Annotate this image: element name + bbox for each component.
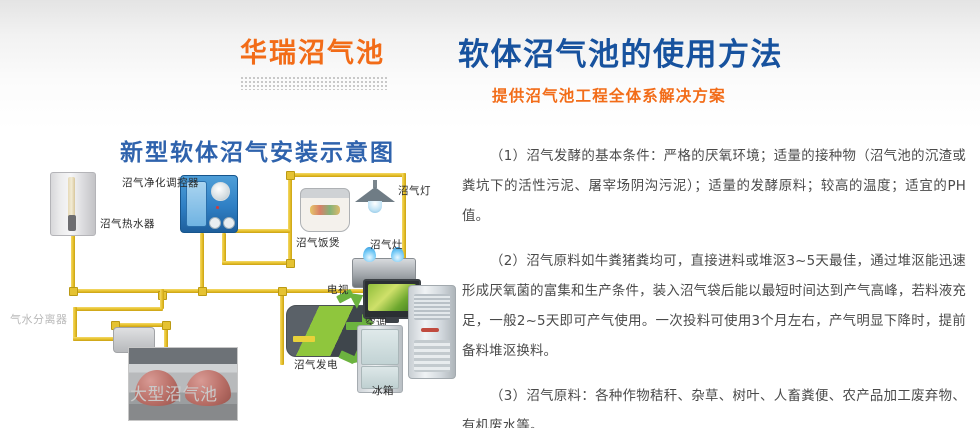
pipe-joint bbox=[69, 287, 78, 296]
biogas-lamp-device bbox=[355, 180, 395, 214]
pipe-to-generator bbox=[280, 289, 284, 365]
pipe-riser-to-top bbox=[288, 173, 292, 265]
page-title: 软体沼气池的使用方法 bbox=[458, 38, 958, 74]
paragraph-2: （2）沼气原料如牛粪猪粪均可，直接进料或堆沤3~5天最佳，通过堆沤能迅速形成厌氧… bbox=[462, 247, 966, 367]
pipe-joint bbox=[198, 287, 207, 296]
installation-diagram: 新型软体沼气安装示意图 bbox=[0, 125, 455, 428]
label-tv: 电视 bbox=[327, 282, 349, 297]
lamp-shade bbox=[355, 187, 395, 202]
page-root: 华瑞沼气池 软体沼气池的使用方法 提供沼气池工程全体系解决方案 （1）沼气发酵的… bbox=[0, 0, 980, 428]
paragraph-3: （3）沼气原料：各种作物秸秆、杂草、树叶、人畜粪便、农产品加工废弃物、有机废水等… bbox=[462, 382, 966, 428]
ac-vent bbox=[414, 294, 450, 320]
brand-logo[interactable]: 华瑞沼气池 bbox=[240, 40, 440, 90]
ac-grille bbox=[414, 340, 450, 372]
paragraph-1: （1）沼气发酵的基本条件：严格的厌氧环境；适量的接种物（沼气池的沉渣或粪坑下的活… bbox=[462, 142, 966, 232]
pipe-joint bbox=[278, 287, 287, 296]
page-subtitle: 提供沼气池工程全体系解决方案 bbox=[492, 84, 958, 106]
air-conditioner-device bbox=[408, 285, 456, 379]
dot-pattern-decoration bbox=[240, 76, 388, 90]
pipe-controller-to-riser bbox=[222, 261, 292, 265]
label-refrigerator: 冰箱 bbox=[372, 383, 394, 398]
pipe-joint bbox=[162, 321, 171, 330]
pipe-separator-branch bbox=[73, 307, 163, 311]
brand-name: 华瑞沼气池 bbox=[240, 40, 440, 67]
pipe-controller-down bbox=[200, 233, 204, 291]
label-biogas-pool: 大型沼气池 bbox=[130, 380, 218, 405]
pipe-separator-down bbox=[73, 307, 77, 341]
biogas-rice-cooker-device bbox=[300, 188, 350, 232]
controller-knob-right[interactable] bbox=[223, 217, 235, 229]
label-lamp: 沼气灯 bbox=[398, 183, 431, 198]
lamp-bulb bbox=[368, 201, 382, 213]
pipe-joint bbox=[286, 171, 295, 180]
label-gas-water-separator: 气水分离器 bbox=[10, 311, 68, 327]
pipe-into-separator bbox=[73, 337, 115, 341]
diagram-title: 新型软体沼气安装示意图 bbox=[120, 133, 395, 167]
label-water-heater: 沼气热水器 bbox=[100, 216, 155, 231]
label-generator: 沼气发电 bbox=[294, 357, 338, 372]
biogas-water-heater-device bbox=[50, 172, 96, 236]
pipe-drop-to-separator-line bbox=[160, 289, 164, 309]
pipe-heater-down bbox=[71, 235, 75, 293]
pipe-top-horizontal bbox=[288, 173, 406, 177]
label-stove: 沼气灶 bbox=[370, 237, 403, 252]
pressure-gauge-icon bbox=[211, 182, 230, 201]
article-body: （1）沼气发酵的基本条件：严格的厌氧环境；适量的接种物（沼气池的沉渣或粪坑下的活… bbox=[462, 142, 966, 428]
tv-stand bbox=[385, 318, 399, 323]
ac-badge bbox=[421, 328, 439, 332]
label-controller: 沼气净化调控器 bbox=[122, 175, 199, 190]
headline-block: 软体沼气池的使用方法 提供沼气池工程全体系解决方案 bbox=[458, 38, 958, 106]
indicator-dot bbox=[216, 206, 219, 209]
controller-knob-left[interactable] bbox=[209, 217, 221, 229]
pipe-joint bbox=[286, 259, 295, 268]
label-rice-cooker: 沼气饭煲 bbox=[296, 235, 340, 250]
fridge-upper-door bbox=[361, 329, 399, 365]
